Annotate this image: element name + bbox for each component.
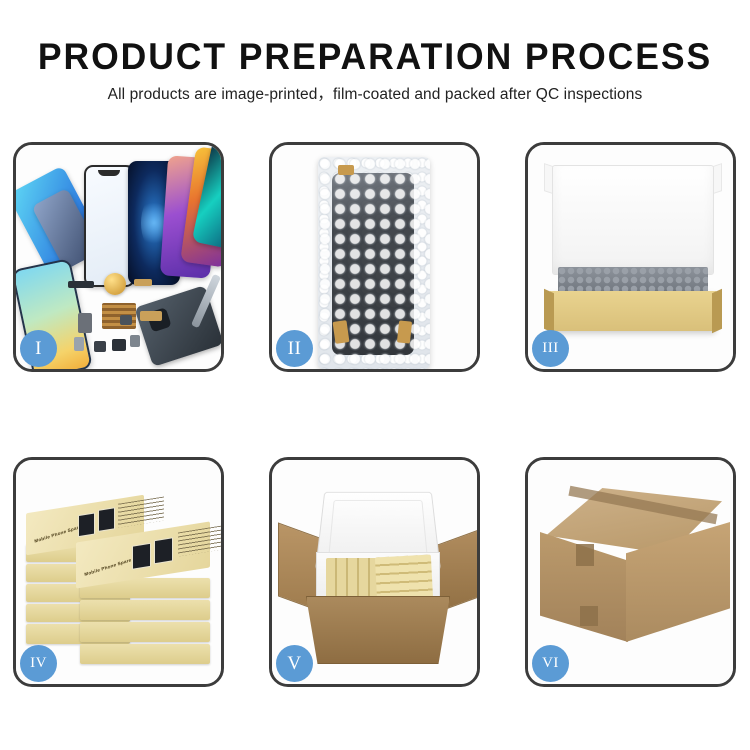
step-badge-3: III: [532, 330, 569, 367]
step-panel-5[interactable]: V: [269, 457, 480, 687]
phone-thumbnail-icon: [98, 507, 115, 532]
step-badge-4: IV: [20, 645, 57, 682]
box-side: [80, 644, 210, 664]
step-badge-5: V: [276, 645, 313, 682]
part-icon: [130, 335, 140, 347]
tape-icon: [333, 320, 350, 344]
box-spec-lines: [178, 525, 221, 556]
step-badge-2: II: [276, 330, 313, 367]
part-icon: [120, 315, 132, 325]
box-spec-lines: [118, 496, 164, 527]
white-foam-lid-icon: [552, 165, 714, 275]
box-side: [80, 600, 210, 620]
box-side: [80, 622, 210, 642]
part-icon: [140, 311, 162, 321]
step-panel-6[interactable]: VI: [525, 457, 736, 687]
phone-thumbnail-icon: [78, 512, 95, 537]
part-icon: [112, 339, 126, 351]
part-icon: [74, 337, 84, 351]
step-badge-6: VI: [532, 645, 569, 682]
phone-thumbnail-icon: [132, 543, 151, 570]
part-icon: [68, 281, 94, 288]
step-panel-2[interactable]: II: [269, 142, 480, 372]
carton-tab-icon: [576, 544, 594, 566]
carton-tab-icon: [580, 606, 598, 626]
step-panel-3[interactable]: III: [525, 142, 736, 372]
kraft-boxes-icon: [375, 555, 433, 602]
box-stack: Mobile Phone Spare Parts Mobile Phone Sp…: [24, 486, 220, 662]
part-icon: [134, 279, 152, 286]
part-icon: [94, 341, 106, 352]
carton-front-icon: [306, 596, 450, 664]
tape-icon: [397, 320, 412, 343]
step-panel-1[interactable]: I: [13, 142, 224, 372]
tape-icon: [338, 165, 354, 175]
phone-thumbnail-icon: [154, 537, 173, 564]
step-badge-1: I: [20, 330, 57, 367]
step-panel-4[interactable]: Mobile Phone Spare Parts Mobile Phone Sp…: [13, 457, 224, 687]
header: PRODUCT PREPARATION PROCESS All products…: [0, 36, 750, 105]
part-icon: [78, 313, 92, 333]
infographic-page: PRODUCT PREPARATION PROCESS All products…: [0, 0, 750, 750]
process-grid: I II III: [13, 142, 737, 682]
kraft-tray-icon: [550, 291, 716, 331]
page-subtitle: All products are image-printed，film-coat…: [0, 85, 750, 105]
page-title: PRODUCT PREPARATION PROCESS: [15, 36, 735, 78]
speaker-part-icon: [104, 273, 126, 295]
